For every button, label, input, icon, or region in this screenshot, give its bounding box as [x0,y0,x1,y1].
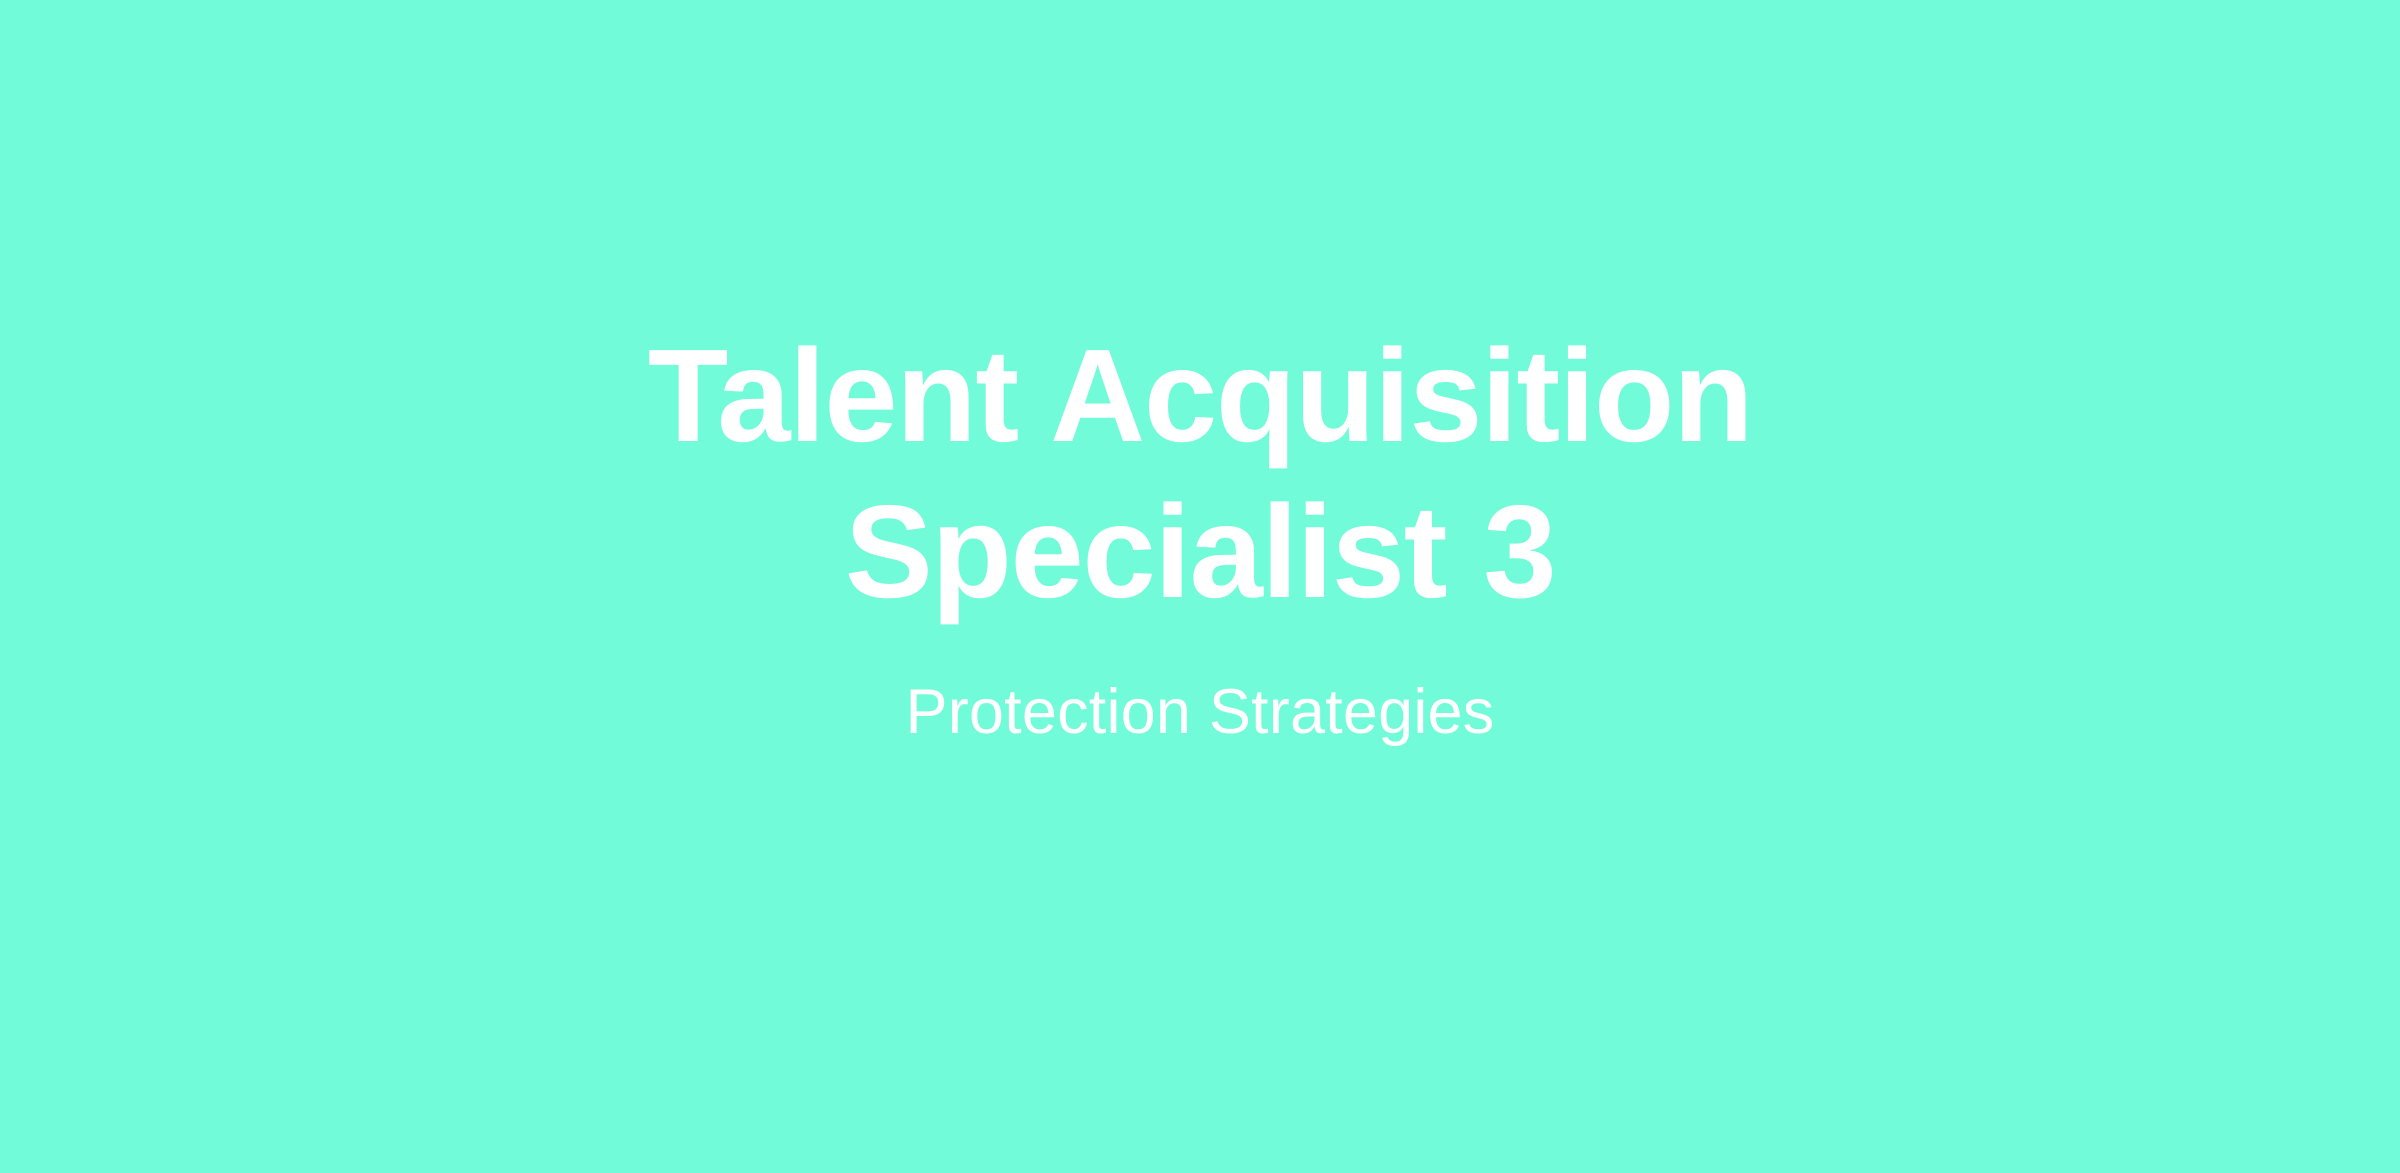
slide-subtitle: Protection Strategies [905,675,1494,751]
slide-title: Talent Acquisition Specialist 3 [370,318,2030,630]
title-slide: Talent Acquisition Specialist 3 Protecti… [0,0,2400,1173]
title-block: Talent Acquisition Specialist 3 Protecti… [0,318,2400,751]
